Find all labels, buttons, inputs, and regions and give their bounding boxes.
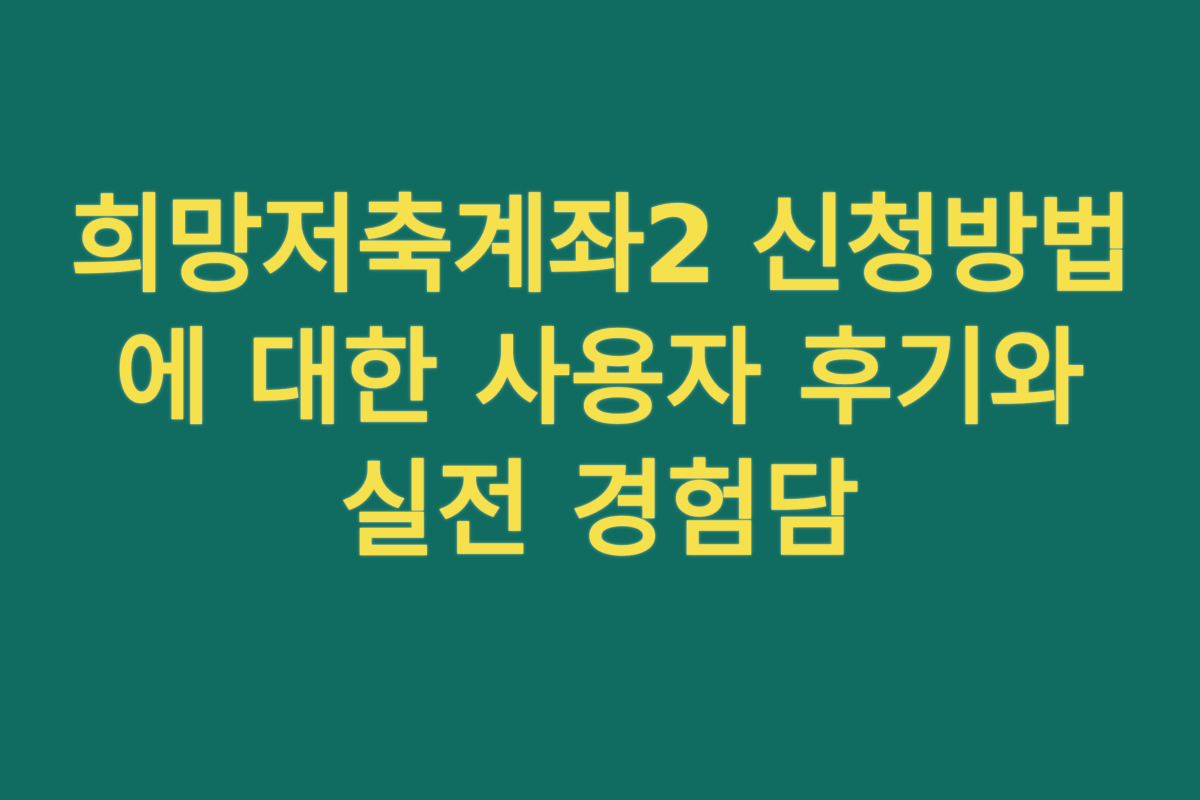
title-line-2: 에 대한 사용자 후기와 xyxy=(70,312,1130,444)
title-block: 희망저축계좌2 신청방법 에 대한 사용자 후기와 실전 경험담 xyxy=(70,180,1130,576)
title-line-3: 실전 경험담 xyxy=(70,444,1130,576)
thumbnail-card: 희망저축계좌2 신청방법 에 대한 사용자 후기와 실전 경험담 xyxy=(0,0,1200,800)
title-line-1: 희망저축계좌2 신청방법 xyxy=(70,180,1130,312)
